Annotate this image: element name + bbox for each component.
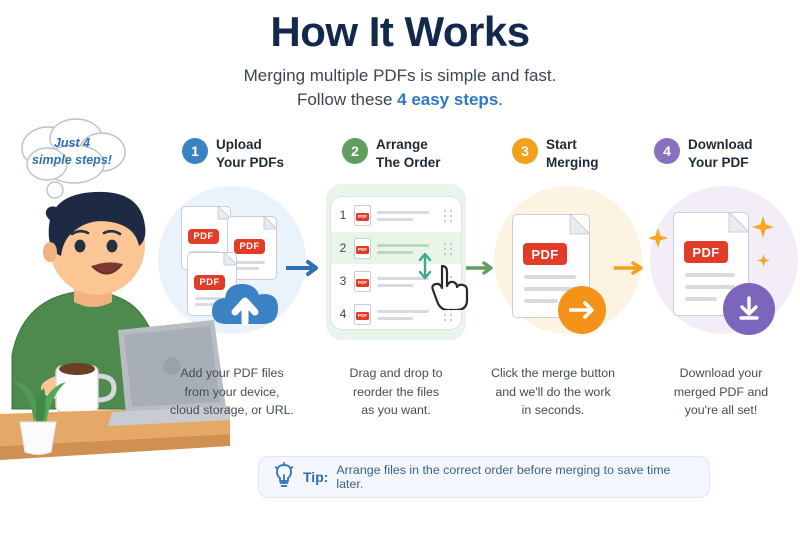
pdf-chip: PDF (523, 243, 567, 265)
subtitle-line-1: Merging multiple PDFs is simple and fast… (0, 66, 800, 86)
caption-line: Drag and drop to (350, 366, 443, 380)
infographic-canvas: How It Works Merging multiple PDFs is si… (0, 0, 800, 533)
step-2-label: Arrange The Order (376, 136, 441, 172)
cloud-upload-icon[interactable] (210, 278, 280, 328)
caption-line: cloud storage, or URL. (170, 403, 294, 417)
caption-line: from your device, (184, 385, 279, 399)
step-1-title-line-2: Your PDFs (216, 155, 284, 170)
subtitle-highlight: 4 easy steps (397, 90, 498, 109)
drag-handle-icon[interactable] (444, 243, 453, 254)
row-index: 3 (334, 274, 352, 288)
step-4-title-line-2: Your PDF (688, 155, 749, 170)
step-2-title-line-2: The Order (376, 155, 441, 170)
pdf-chip: PDF (684, 241, 728, 263)
step-3-title-line-1: Start (546, 137, 577, 152)
caption-line: you're all set! (685, 403, 758, 417)
step-4-title-line-1: Download (688, 137, 753, 152)
merge-start-button[interactable] (558, 286, 606, 334)
pdf-file-icon: PDF (354, 271, 371, 292)
sparkle-icon (648, 228, 668, 253)
pdf-chip: PDF (356, 213, 369, 221)
page-title: How It Works (0, 8, 800, 56)
connector-arrow-2-3 (466, 258, 496, 278)
subtitle-prefix: Follow these (297, 90, 397, 109)
tip-text: Arrange files in the correct order befor… (336, 463, 695, 491)
caption-line: Add your PDF files (180, 366, 283, 380)
step-3-header: 3 Start Merging (512, 136, 599, 172)
file-list-row[interactable]: 2 PDF (331, 232, 462, 264)
caption-line: as you want. (361, 403, 431, 417)
step-1-badge: 1 (182, 138, 208, 164)
pdf-file-icon: PDF (354, 205, 371, 226)
tip-label: Tip: (303, 469, 328, 485)
subtitle-suffix: . (498, 90, 503, 109)
pdf-chip: PDF (356, 279, 369, 287)
tip-banner: Tip: Arrange files in the correct order … (258, 456, 710, 498)
step-2-header: 2 Arrange The Order (342, 136, 441, 172)
step-4-caption: Download your merged PDF and you're all … (646, 364, 796, 420)
row-index: 1 (334, 208, 352, 222)
pdf-chip: PDF (356, 312, 369, 320)
drag-handle-icon[interactable] (444, 309, 453, 320)
row-index: 4 (334, 307, 352, 321)
row-index: 2 (334, 241, 352, 255)
drag-handle-icon[interactable] (444, 210, 453, 221)
file-list-row[interactable]: 1 PDF (331, 199, 462, 231)
pdf-file-icon: PDF (354, 238, 371, 259)
step-2-badge: 2 (342, 138, 368, 164)
step-3-badge: 3 (512, 138, 538, 164)
pdf-chip: PDF (356, 246, 369, 254)
caption-line: Download your (680, 366, 763, 380)
step-1-caption: Add your PDF files from your device, clo… (157, 364, 307, 420)
connector-arrow-1-2 (286, 258, 320, 278)
step-1-title-line-1: Upload (216, 137, 262, 152)
step-4-header: 4 Download Your PDF (654, 136, 753, 172)
pdf-file-icon: PDF (354, 304, 371, 325)
pdf-chip: PDF (188, 229, 219, 244)
caption-line: reorder the files (353, 385, 439, 399)
step-2-title-line-1: Arrange (376, 137, 428, 152)
sparkle-icon (757, 254, 770, 272)
download-button[interactable] (723, 283, 775, 335)
step-3-caption: Click the merge button and we'll do the … (478, 364, 628, 420)
step-2-caption: Drag and drop to reorder the files as yo… (321, 364, 471, 420)
subtitle-line-2: Follow these 4 easy steps. (0, 90, 800, 110)
caption-line: merged PDF and (674, 385, 768, 399)
pdf-chip: PDF (234, 239, 265, 254)
step-4-label: Download Your PDF (688, 136, 753, 172)
step-1-header: 1 Upload Your PDFs (182, 136, 284, 172)
caption-line: in seconds. (522, 403, 585, 417)
lightbulb-icon (273, 462, 295, 493)
caption-line: and we'll do the work (495, 385, 610, 399)
sparkle-icon (752, 216, 774, 243)
caption-line: Click the merge button (491, 366, 615, 380)
step-4-badge: 4 (654, 138, 680, 164)
connector-arrow-3-4 (614, 258, 646, 278)
step-1-label: Upload Your PDFs (216, 136, 284, 172)
step-3-label: Start Merging (546, 136, 599, 172)
step-3-title-line-2: Merging (546, 155, 599, 170)
